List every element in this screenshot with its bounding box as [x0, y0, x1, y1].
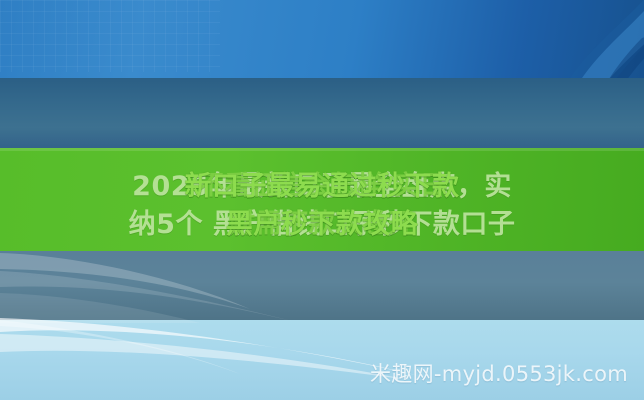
headline-bright-line2: 黑户秒下款攻略: [0, 202, 644, 241]
background-slate-band: [0, 251, 644, 321]
banner-image: 2025年最新口子最全盘点，实 纳5个 黑户借钱口子秒下款口子 不看征信会怎样 …: [0, 0, 644, 400]
sky-grid-texture: [0, 0, 220, 72]
headline-bright-line1: 新口子最易通过秒下款: [0, 164, 644, 203]
background-teal-band: [0, 78, 644, 149]
site-watermark: 米趣网-myjd.0553jk.com: [370, 358, 628, 388]
background-sky-band: [0, 0, 644, 80]
headline-group: 2025年最新口子最全盘点，实 纳5个 黑户借钱口子秒下款口子 不看征信会怎样 …: [0, 150, 644, 250]
